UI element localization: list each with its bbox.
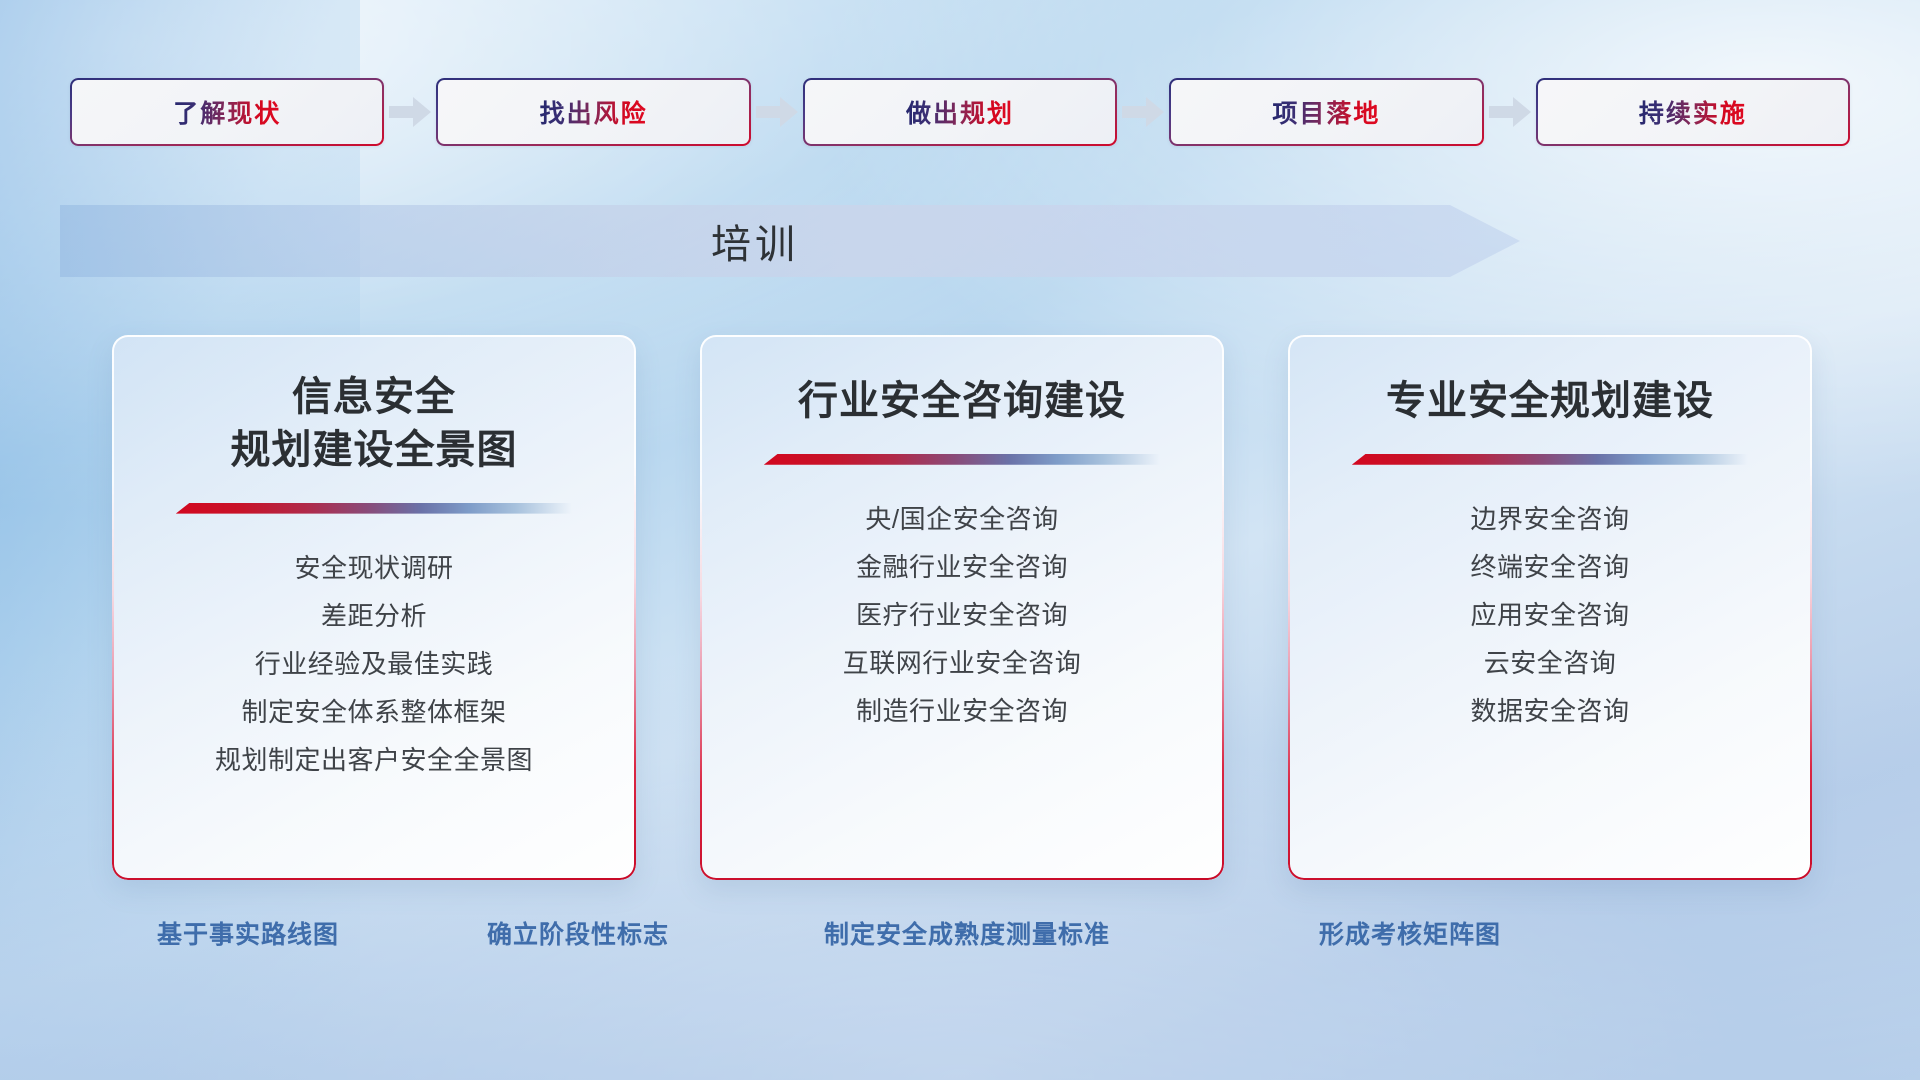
footer-label-3: 制定安全成熟度测量标准 — [824, 915, 1110, 951]
step-label: 做出规划 — [906, 94, 1014, 130]
card-row: 信息安全 规划建设全景图 安全现状调研 差距分析 行业经验及最佳实践 制定安全体… — [112, 335, 1812, 880]
card-list: 边界安全咨询 终端安全咨询 应用安全咨询 云安全咨询 数据安全咨询 — [1314, 495, 1786, 735]
list-item: 金融行业安全咨询 — [726, 543, 1198, 591]
list-item: 制定安全体系整体框架 — [138, 688, 610, 736]
card-2[interactable]: 行业安全咨询建设 央/国企安全咨询 金融行业安全咨询 医疗行业安全咨询 互联网行… — [700, 335, 1224, 880]
process-steps: 了解现状 找出风险 做出规划 项目落地 持续实施 — [70, 78, 1850, 146]
list-item: 终端安全咨询 — [1314, 543, 1786, 591]
footer-label-1: 基于事实路线图 — [157, 915, 339, 951]
list-item: 央/国企安全咨询 — [726, 495, 1198, 543]
footer-label-2: 确立阶段性标志 — [487, 915, 669, 951]
step-label: 持续实施 — [1639, 94, 1747, 130]
card-divider — [176, 503, 572, 514]
card-title: 行业安全咨询建设 — [798, 375, 1126, 428]
card-list: 央/国企安全咨询 金融行业安全咨询 医疗行业安全咨询 互联网行业安全咨询 制造行… — [726, 495, 1198, 735]
step-chip-4[interactable]: 项目落地 — [1169, 78, 1483, 146]
footer-label-4: 形成考核矩阵图 — [1319, 915, 1501, 951]
banner-title: 培训 — [60, 205, 1450, 277]
step-arrow-icon-1 — [384, 92, 436, 132]
list-item: 应用安全咨询 — [1314, 591, 1786, 639]
card-3[interactable]: 专业安全规划建设 边界安全咨询 终端安全咨询 应用安全咨询 云安全咨询 数据安全… — [1288, 335, 1812, 880]
step-arrow-icon-3 — [1117, 92, 1169, 132]
list-item: 规划制定出客户安全全景图 — [138, 736, 610, 784]
card-list: 安全现状调研 差距分析 行业经验及最佳实践 制定安全体系整体框架 规划制定出客户… — [138, 544, 610, 784]
training-banner: 培训 — [60, 205, 1520, 277]
card-title: 信息安全 规划建设全景图 — [231, 371, 518, 477]
list-item: 差距分析 — [138, 592, 610, 640]
card-1[interactable]: 信息安全 规划建设全景图 安全现状调研 差距分析 行业经验及最佳实践 制定安全体… — [112, 335, 636, 880]
step-chip-3[interactable]: 做出规划 — [803, 78, 1117, 146]
list-item: 医疗行业安全咨询 — [726, 591, 1198, 639]
step-chip-2[interactable]: 找出风险 — [436, 78, 750, 146]
step-chip-5[interactable]: 持续实施 — [1536, 78, 1850, 146]
step-arrow-icon-4 — [1484, 92, 1536, 132]
list-item: 云安全咨询 — [1314, 639, 1786, 687]
list-item: 互联网行业安全咨询 — [726, 639, 1198, 687]
list-item: 制造行业安全咨询 — [726, 687, 1198, 735]
card-divider — [1352, 454, 1748, 465]
step-label: 项目落地 — [1272, 94, 1380, 130]
list-item: 行业经验及最佳实践 — [138, 640, 610, 688]
step-label: 了解现状 — [173, 94, 281, 130]
card-title: 专业安全规划建设 — [1386, 375, 1714, 428]
card-divider — [764, 454, 1160, 465]
list-item: 数据安全咨询 — [1314, 687, 1786, 735]
slide-canvas: 了解现状 找出风险 做出规划 项目落地 持续实施 培训 — [0, 0, 1920, 1080]
list-item: 边界安全咨询 — [1314, 495, 1786, 543]
step-arrow-icon-2 — [751, 92, 803, 132]
step-chip-1[interactable]: 了解现状 — [70, 78, 384, 146]
list-item: 安全现状调研 — [138, 544, 610, 592]
footer-labels: 基于事实路线图 确立阶段性标志 制定安全成熟度测量标准 形成考核矩阵图 — [0, 915, 1920, 963]
step-label: 找出风险 — [540, 94, 648, 130]
